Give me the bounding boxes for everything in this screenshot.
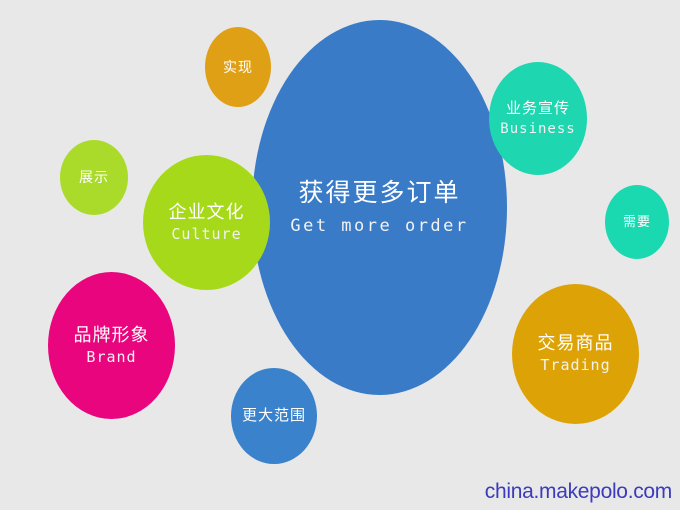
bubble-get-more-order[interactable]: 获得更多订单 Get more order xyxy=(252,20,507,395)
bubble-label-en: Trading xyxy=(540,357,610,375)
bubble-culture[interactable]: 企业文化 Culture xyxy=(143,155,270,290)
bubble-label-cn: 需要 xyxy=(623,214,651,229)
bubble-diagram-canvas: 获得更多订单 Get more order 企业文化 Culture 品牌形象 … xyxy=(0,0,680,510)
bubble-label-cn: 品牌形象 xyxy=(74,325,150,346)
bubble-label-en: Brand xyxy=(86,349,136,367)
bubble-label-cn: 实现 xyxy=(223,59,253,76)
bubble-label-cn: 展示 xyxy=(79,169,109,186)
bubble-label-cn: 更大范围 xyxy=(242,407,306,425)
bubble-display[interactable]: 展示 xyxy=(60,140,128,215)
bubble-label-en: Get more order xyxy=(290,216,468,236)
bubble-label-cn: 业务宣传 xyxy=(506,100,570,118)
bubble-label-en: Business xyxy=(500,121,575,138)
watermark-url: china.makepolo.com xyxy=(485,480,672,504)
bubble-label-cn: 企业文化 xyxy=(169,202,245,223)
bubble-brand[interactable]: 品牌形象 Brand xyxy=(48,272,175,419)
bubble-realize[interactable]: 实现 xyxy=(205,27,271,107)
bubble-wider-scope[interactable]: 更大范围 xyxy=(231,368,317,464)
bubble-trading[interactable]: 交易商品 Trading xyxy=(512,284,639,424)
bubble-label-en: Culture xyxy=(171,226,241,244)
bubble-label-cn: 交易商品 xyxy=(538,333,614,354)
bubble-business[interactable]: 业务宣传 Business xyxy=(489,62,587,175)
bubble-need[interactable]: 需要 xyxy=(605,185,669,259)
bubble-label-cn: 获得更多订单 xyxy=(298,179,460,209)
